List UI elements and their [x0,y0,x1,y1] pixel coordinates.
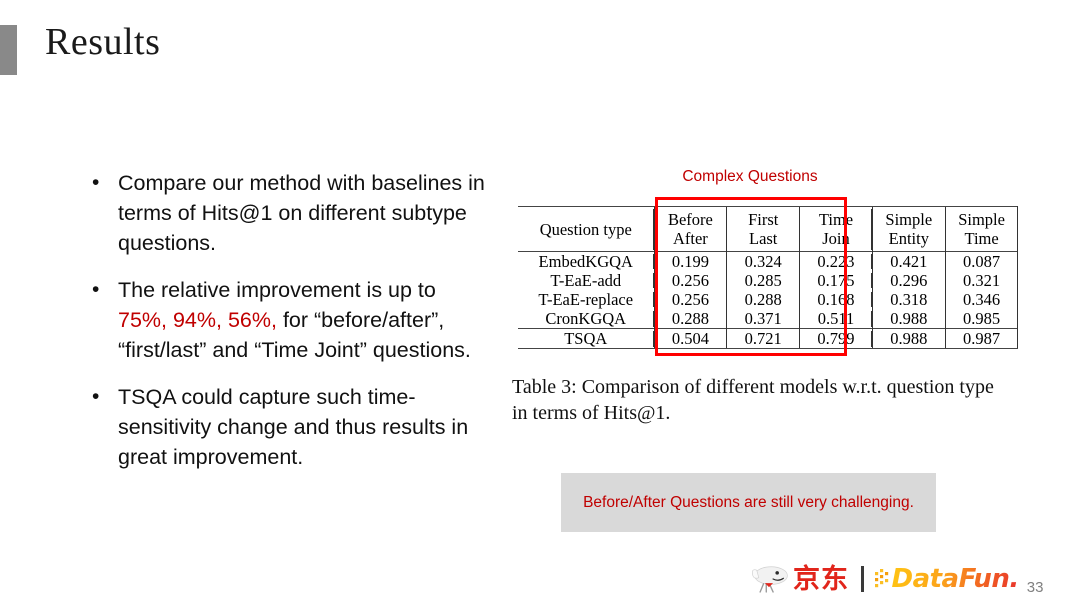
header-line-2: Join [804,229,868,248]
list-item: • TSQA could capture such time-sensitivi… [88,382,488,472]
cell-value: 0.324 [727,252,800,272]
cell-model: T-EaE-add [518,271,654,290]
cell-value: 0.988 [872,329,945,349]
jd-logo: 京东 [748,564,849,594]
bullet-marker-icon: • [88,275,118,305]
header-line-2: Entity [877,229,941,248]
bullet-text: Compare our method with baselines in ter… [118,168,488,258]
results-table-container: Question type Before After First Last Ti… [518,206,1018,349]
cell-value: 0.256 [654,290,727,309]
page-number: 33 [1027,579,1044,600]
cell-value: 0.346 [945,290,1018,309]
cell-value: 0.321 [945,271,1018,290]
bullet-segment-highlight: 75%, 94%, 56%, [118,308,277,332]
callout-box: Before/After Questions are still very ch… [561,473,936,532]
cell-value: 0.371 [727,309,800,329]
cell-model: TSQA [518,329,654,349]
cell-value: 0.199 [654,252,727,272]
cell-value: 0.318 [872,290,945,309]
header-line-1: Simple [877,210,941,229]
cell-value: 0.988 [872,309,945,329]
cell-value: 0.987 [945,329,1018,349]
bullet-list: • Compare our method with baselines in t… [88,168,488,489]
table-row: EmbedKGQA 0.199 0.324 0.223 0.421 0.087 [518,252,1018,272]
table-row-highlighted: TSQA 0.504 0.721 0.799 0.988 0.987 [518,329,1018,349]
bullet-marker-icon: • [88,382,118,412]
cell-value: 0.421 [872,252,945,272]
header-line-2: Time [950,229,1014,248]
cell-value: 0.168 [800,290,873,309]
cell-value: 0.256 [654,271,727,290]
bullet-text: TSQA could capture such time-sensitivity… [118,382,488,472]
jd-dog-mascot-icon [748,564,790,594]
footer-divider [861,566,864,592]
header-line-1: Simple [950,210,1014,229]
header-line-2: After [659,229,723,248]
table-header-question-type: Question type [518,207,654,252]
cell-value: 0.087 [945,252,1018,272]
callout-text: Before/After Questions are still very ch… [565,492,932,514]
cell-model: T-EaE-replace [518,290,654,309]
cell-value: 0.504 [654,329,727,349]
bullet-segment: TSQA could capture such time-sensitivity… [118,385,468,469]
datafun-logo: DataFun. [875,566,1019,592]
bullet-segment: Compare our method with baselines in ter… [118,171,485,255]
cell-value: 0.721 [727,329,800,349]
table-header-first-last: First Last [727,207,800,252]
table-row: CronKGQA 0.288 0.371 0.511 0.988 0.985 [518,309,1018,329]
bullet-text: The relative improvement is up to 75%, 9… [118,275,488,365]
complex-questions-annotation-label: Complex Questions [655,168,845,186]
list-item: • Compare our method with baselines in t… [88,168,488,258]
footer: 京东 DataFun. 33 [748,558,1043,600]
page-title: Results [45,22,160,64]
header-line-1: Time [804,210,868,229]
cell-value: 0.799 [800,329,873,349]
cell-value: 0.985 [945,309,1018,329]
table-caption: Table 3: Comparison of different models … [512,374,1007,426]
cell-value: 0.285 [727,271,800,290]
cell-model: CronKGQA [518,309,654,329]
results-table: Question type Before After First Last Ti… [518,206,1018,349]
jd-brand-text: 京东 [793,566,849,593]
list-item: • The relative improvement is up to 75%,… [88,275,488,365]
datafun-dots-icon [875,568,891,590]
datafun-brand-text: DataFun. [892,566,1019,592]
table-header-time-join: Time Join [800,207,873,252]
title-accent-bar [0,25,17,75]
table-header-row: Question type Before After First Last Ti… [518,207,1018,252]
bullet-segment: The relative improvement is up to [118,278,436,302]
table-header-before-after: Before After [654,207,727,252]
header-line-1: First [731,210,795,229]
table-row: T-EaE-replace 0.256 0.288 0.168 0.318 0.… [518,290,1018,309]
cell-value: 0.288 [654,309,727,329]
table-header-simple-entity: Simple Entity [872,207,945,252]
cell-value: 0.511 [800,309,873,329]
cell-value: 0.175 [800,271,873,290]
table-row: T-EaE-add 0.256 0.285 0.175 0.296 0.321 [518,271,1018,290]
cell-value: 0.288 [727,290,800,309]
bullet-marker-icon: • [88,168,118,198]
header-line-2: Last [731,229,795,248]
cell-value: 0.223 [800,252,873,272]
table-header-simple-time: Simple Time [945,207,1018,252]
cell-value: 0.296 [872,271,945,290]
cell-model: EmbedKGQA [518,252,654,272]
header-line-1: Before [659,210,723,229]
